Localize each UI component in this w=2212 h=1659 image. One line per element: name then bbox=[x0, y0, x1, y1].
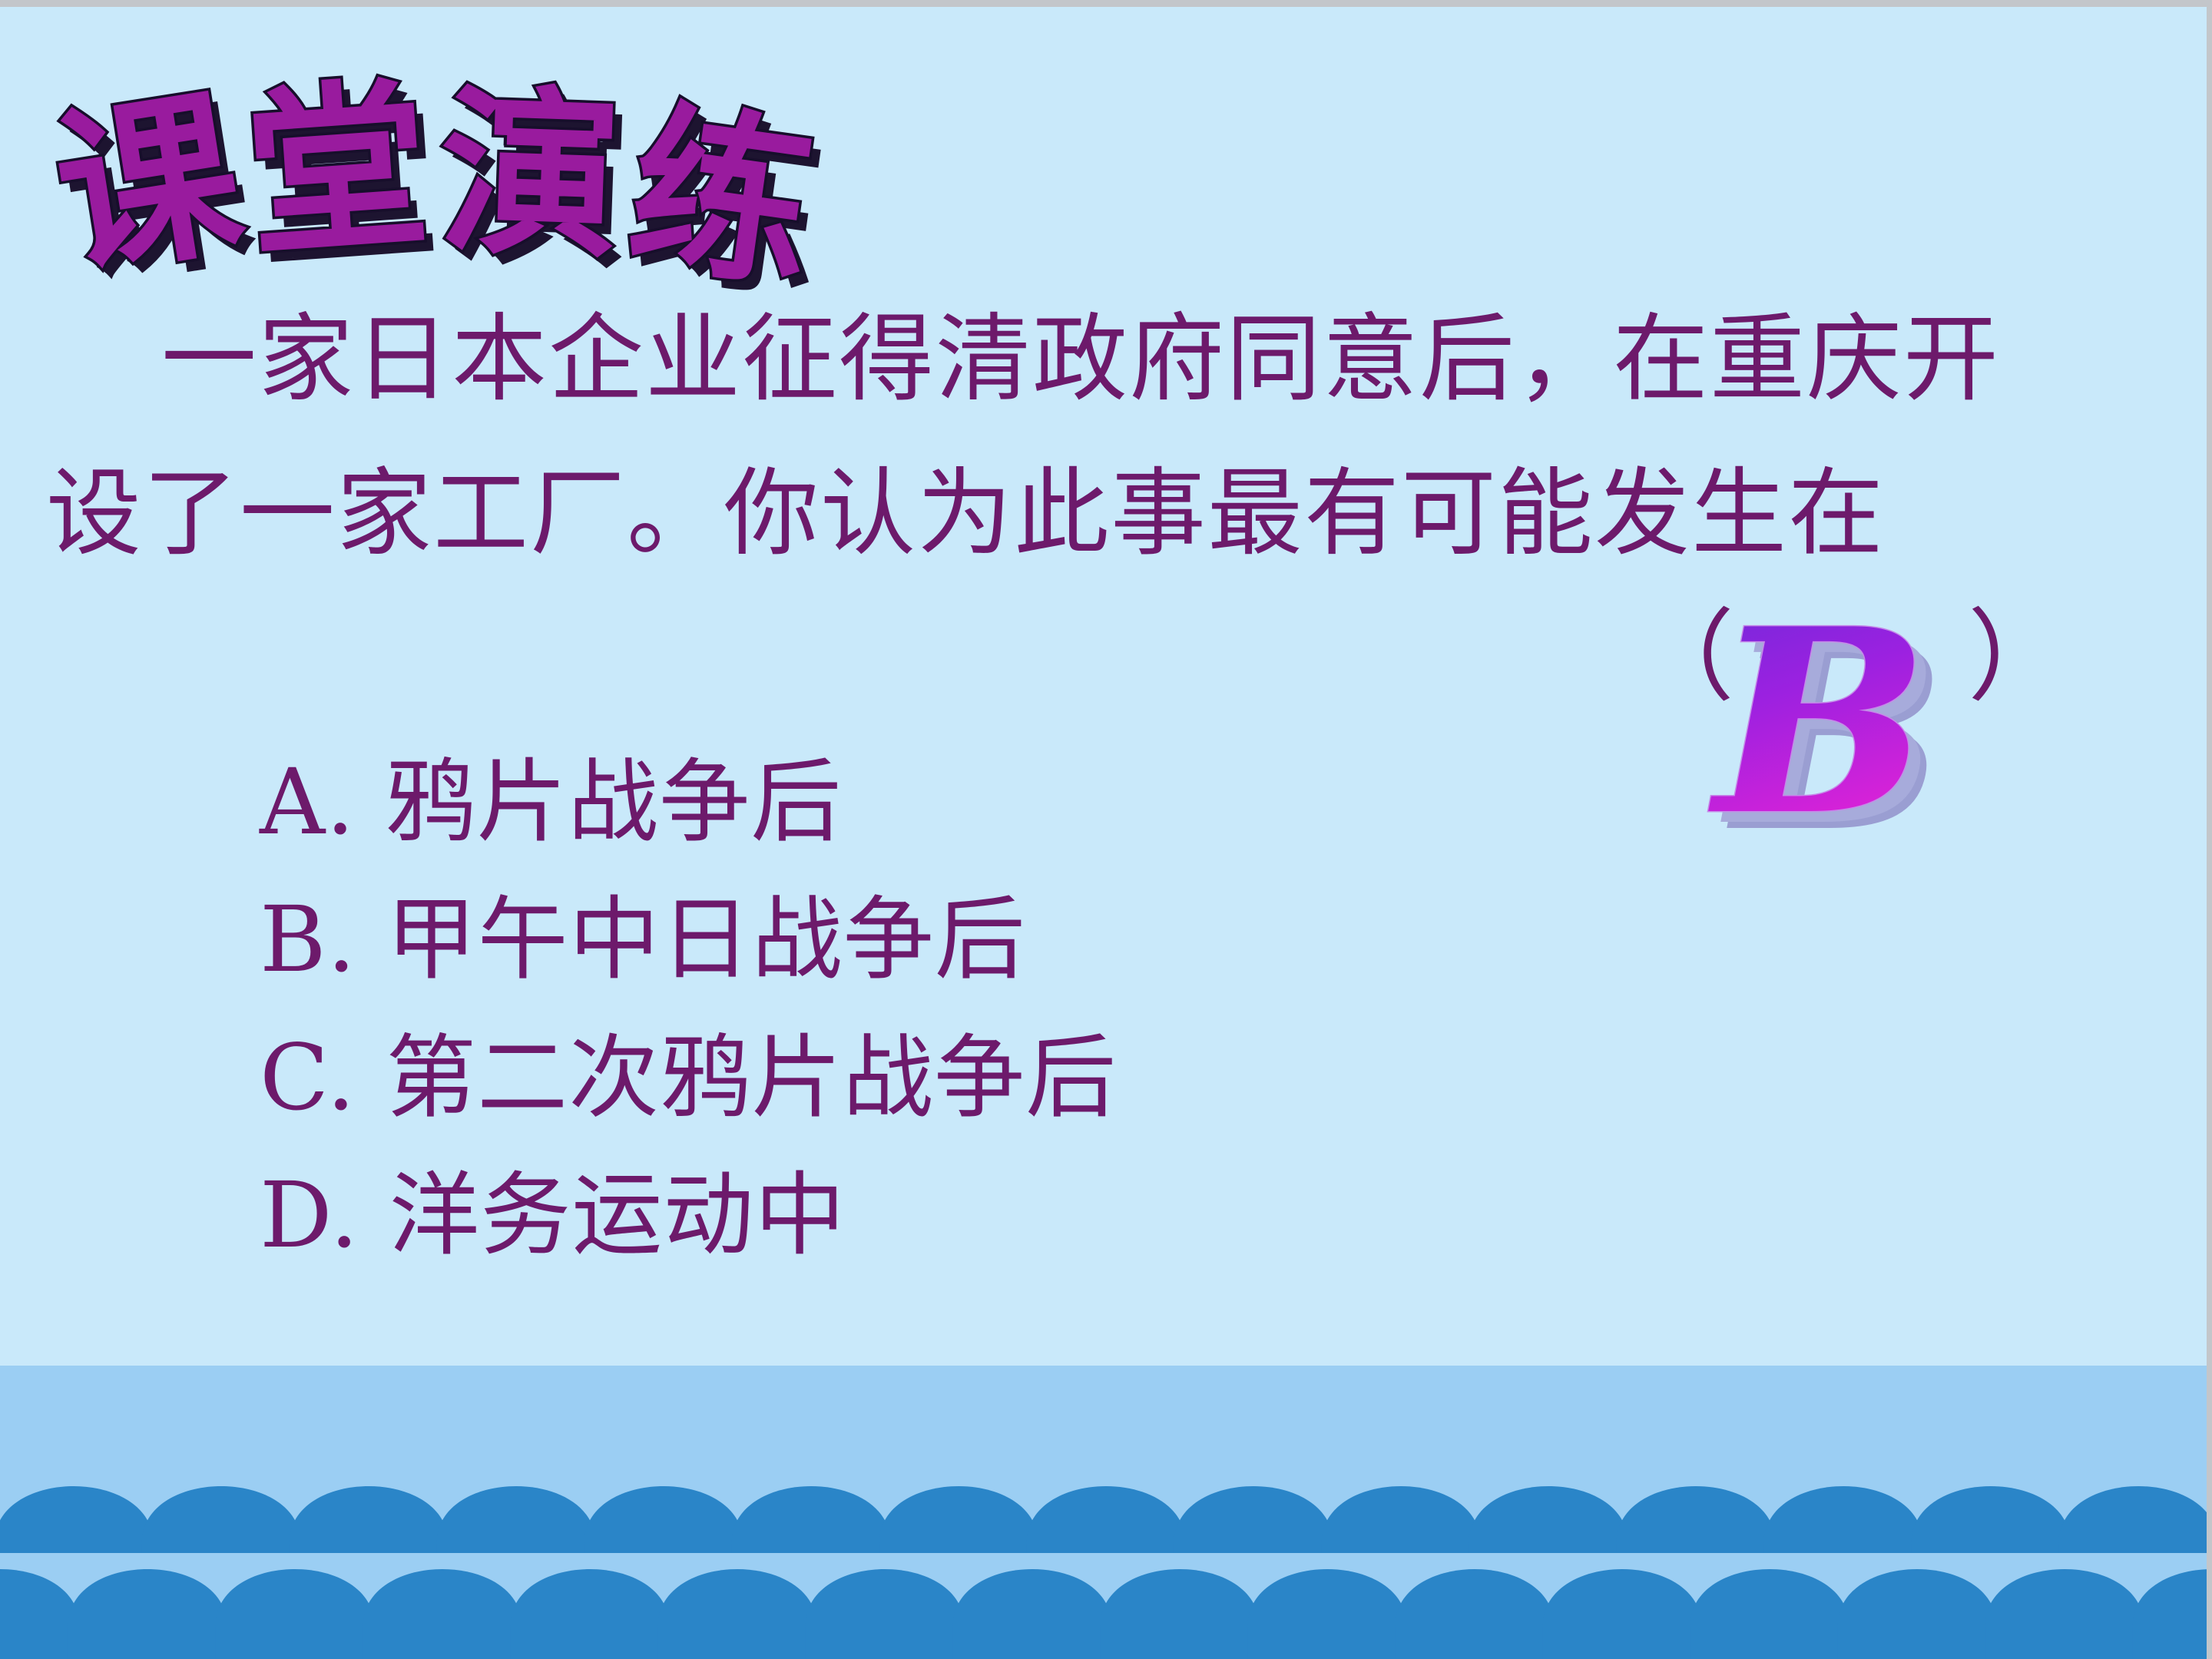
option-d[interactable]: D. 洋务运动中 bbox=[260, 1147, 1117, 1284]
question-line-1: 一家日本企业征得清政府同意后，在重庆开 bbox=[46, 283, 2166, 437]
title-char-4: 练 bbox=[618, 82, 826, 315]
answer-row: （ B B B ） bbox=[0, 591, 2212, 868]
answer-letter-face: B bbox=[1707, 573, 1929, 871]
arch-row-back bbox=[0, 1486, 2212, 1553]
slide-canvas: 课 堂 演 练 课 堂 演 练 一家日本企业征得清政府同意后，在重庆开 设了一家… bbox=[0, 0, 2212, 1659]
title-char-1: 课 bbox=[43, 68, 255, 304]
question-line-2: 设了一家工厂。你认为此事最有可能发生在 bbox=[46, 437, 2166, 591]
slide-title-wordart: 课 堂 演 练 课 堂 演 练 bbox=[54, 31, 837, 284]
bottom-decoration-band bbox=[0, 1366, 2212, 1659]
option-c[interactable]: C. 第二次鸦片战争后 bbox=[260, 1009, 1117, 1147]
option-b[interactable]: B. 甲午中日战争后 bbox=[260, 871, 1117, 1008]
window-top-border bbox=[0, 0, 2212, 7]
title-char-2: 堂 bbox=[240, 61, 435, 283]
question-text: 一家日本企业征得清政府同意后，在重庆开 设了一家工厂。你认为此事最有可能发生在 bbox=[46, 283, 2166, 591]
title-char-3: 演 bbox=[436, 68, 624, 284]
answer-letter-wordart: B B B bbox=[1697, 575, 2005, 897]
window-right-border bbox=[2207, 0, 2212, 1659]
answer-paren-right: ） bbox=[1968, 607, 2068, 707]
